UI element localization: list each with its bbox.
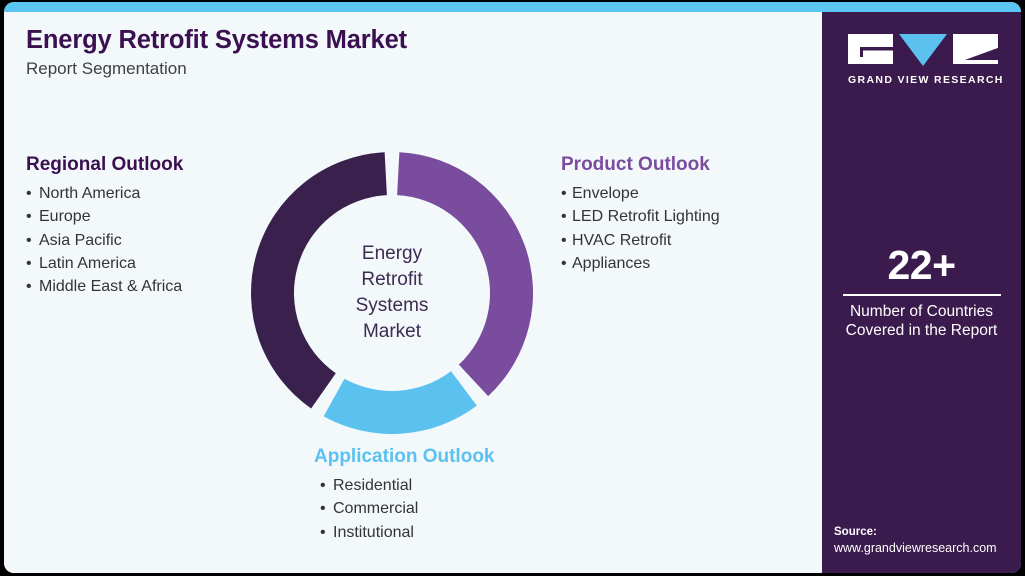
- top-accent-bar: [4, 2, 1021, 12]
- source-block: Source: www.grandviewresearch.com: [834, 525, 1014, 557]
- source-url[interactable]: www.grandviewresearch.com: [834, 541, 1014, 557]
- bullet-icon: •: [26, 252, 39, 275]
- donut-chart-svg: [251, 152, 533, 434]
- list-item: •Envelope: [561, 182, 720, 205]
- list-item: •Appliances: [561, 252, 720, 275]
- brand-logo: GRAND VIEW RESEARCH: [848, 32, 998, 86]
- report-card: Energy Retrofit Systems Market Report Se…: [4, 2, 1021, 573]
- list-item-label: Asia Pacific: [39, 232, 122, 249]
- stat-value: 22+: [834, 244, 1009, 287]
- brand-logo-text: GRAND VIEW RESEARCH: [848, 74, 998, 86]
- list-item: •Middle East & Africa: [26, 275, 183, 298]
- application-outlook-heading: Application Outlook: [314, 446, 495, 469]
- source-title: Source:: [834, 525, 1014, 539]
- list-item-label: North America: [39, 185, 140, 202]
- donut-segment-regional[interactable]: [251, 152, 387, 408]
- list-item: •Europe: [26, 205, 183, 228]
- list-item: •LED Retrofit Lighting: [561, 205, 720, 228]
- bullet-icon: •: [26, 229, 39, 252]
- list-item-label: Appliances: [572, 255, 650, 272]
- infographic-root: Energy Retrofit Systems Market Report Se…: [0, 0, 1025, 576]
- page-title: Energy Retrofit Systems Market: [26, 26, 786, 55]
- list-item: •Latin America: [26, 252, 183, 275]
- list-item-label: Latin America: [39, 255, 136, 272]
- list-item-label: Envelope: [572, 185, 639, 202]
- bullet-icon: •: [561, 182, 572, 205]
- stat-label: Number of Countries Covered in the Repor…: [834, 302, 1009, 340]
- bullet-icon: •: [561, 252, 572, 275]
- bullet-icon: •: [26, 205, 39, 228]
- side-panel: GRAND VIEW RESEARCH 22+ Number of Countr…: [822, 12, 1021, 573]
- list-item: •Residential: [314, 474, 495, 497]
- application-outlook-block: Application Outlook •Residential •Commer…: [314, 446, 495, 544]
- stat-divider: [843, 294, 1001, 296]
- stat-label-line2: Covered in the Report: [846, 322, 998, 339]
- bullet-icon: •: [561, 229, 572, 252]
- list-item-label: LED Retrofit Lighting: [572, 208, 720, 225]
- list-item: •HVAC Retrofit: [561, 229, 720, 252]
- product-outlook-list: •Envelope •LED Retrofit Lighting •HVAC R…: [561, 182, 720, 276]
- regional-outlook-list: •North America •Europe •Asia Pacific •La…: [26, 182, 183, 299]
- page-subtitle: Report Segmentation: [26, 59, 786, 79]
- header: Energy Retrofit Systems Market Report Se…: [26, 26, 786, 80]
- regional-outlook-heading: Regional Outlook: [26, 154, 183, 177]
- application-outlook-list: •Residential •Commercial •Institutional: [314, 474, 495, 544]
- donut-chart: Energy Retrofit Systems Market: [251, 152, 533, 434]
- list-item-label: Commercial: [333, 500, 418, 517]
- bullet-icon: •: [320, 521, 333, 544]
- bullet-icon: •: [320, 474, 333, 497]
- list-item-label: Residential: [333, 477, 412, 494]
- list-item-label: HVAC Retrofit: [572, 232, 671, 249]
- stat-label-line1: Number of Countries: [850, 303, 993, 320]
- bullet-icon: •: [26, 182, 39, 205]
- list-item: •North America: [26, 182, 183, 205]
- bullet-icon: •: [561, 205, 572, 228]
- donut-segment-product[interactable]: [397, 152, 533, 396]
- countries-stat: 22+ Number of Countries Covered in the R…: [834, 244, 1009, 340]
- product-outlook-heading: Product Outlook: [561, 154, 720, 177]
- donut-segment-application[interactable]: [324, 371, 477, 434]
- list-item-label: Institutional: [333, 524, 414, 541]
- regional-outlook-block: Regional Outlook •North America •Europe …: [26, 154, 183, 299]
- product-outlook-block: Product Outlook •Envelope •LED Retrofit …: [561, 154, 720, 275]
- bullet-icon: •: [26, 275, 39, 298]
- bullet-icon: •: [320, 497, 333, 520]
- list-item-label: Europe: [39, 208, 91, 225]
- main-content-area: Energy Retrofit Systems Market Report Se…: [4, 12, 822, 573]
- list-item: •Institutional: [314, 521, 495, 544]
- list-item-label: Middle East & Africa: [39, 278, 182, 295]
- list-item: •Commercial: [314, 497, 495, 520]
- list-item: •Asia Pacific: [26, 229, 183, 252]
- gvr-logo-icon: [848, 32, 998, 68]
